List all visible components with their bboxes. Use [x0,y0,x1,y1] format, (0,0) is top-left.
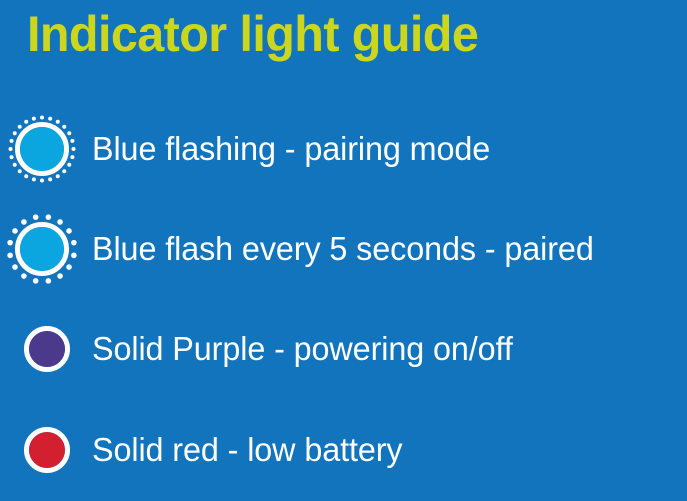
solid-red-light-icon [0,408,84,492]
indicator-label: Blue flash every 5 seconds - paired [92,229,594,269]
indicator-row: Solid red - low battery [0,408,687,492]
solid-purple-light-icon [0,307,84,391]
blue-flashing-light-icon [0,107,84,191]
indicator-label: Blue flashing - pairing mode [92,129,490,169]
indicator-label: Solid red - low battery [92,430,403,470]
indicator-row: Blue flashing - pairing mode [0,107,687,191]
indicator-row: Solid Purple - powering on/off [0,307,687,391]
indicator-label: Solid Purple - powering on/off [92,329,513,369]
page-title: Indicator light guide [27,1,478,67]
indicator-light-guide-panel: Indicator light guide Blue flashing - pa… [0,0,687,501]
blue-slow-flash-light-icon [0,207,84,291]
indicator-row: Blue flash every 5 seconds - paired [0,207,687,291]
